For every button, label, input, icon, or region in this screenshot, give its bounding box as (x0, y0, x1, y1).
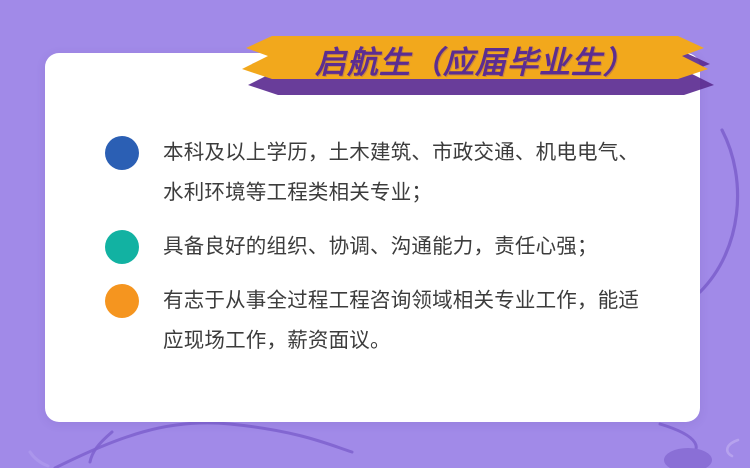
bullet-dot-teal (105, 230, 139, 264)
bottom-balloon-string (660, 424, 696, 458)
page-title: 启航生（应届毕业生） (232, 28, 718, 90)
list-item: 本科及以上学历，土木建筑、市政交通、机电电气、水利环境等工程类相关专业； (105, 133, 665, 213)
requirement-text: 有志于从事全过程工程咨询领域相关专业工作，能适应现场工作，薪资面议。 (163, 281, 653, 361)
bullet-dot-blue (105, 136, 139, 170)
requirement-text: 本科及以上学历，土木建筑、市政交通、机电电气、水利环境等工程类相关专业； (163, 133, 653, 213)
requirement-text: 具备良好的组织、协调、沟通能力，责任心强； (163, 227, 598, 267)
title-ribbon: 启航生（应届毕业生） (232, 28, 718, 104)
bottom-left-swirl (55, 423, 352, 468)
list-item: 有志于从事全过程工程咨询领域相关专业工作，能适应现场工作，薪资面议。 (105, 281, 665, 361)
right-arc-swirl (700, 130, 738, 292)
bottom-left-faint-streak (30, 452, 48, 466)
bottom-balloon-blob (664, 448, 712, 468)
poster-canvas: 启航生（应届毕业生） 本科及以上学历，土木建筑、市政交通、机电电气、水利环境等工… (0, 0, 750, 468)
requirements-list: 本科及以上学历，土木建筑、市政交通、机电电气、水利环境等工程类相关专业； 具备良… (105, 133, 665, 361)
list-item: 具备良好的组织、协调、沟通能力，责任心强； (105, 227, 665, 267)
bullet-dot-orange (105, 284, 139, 318)
bottom-right-small-arc (727, 440, 738, 456)
bottom-left-small-arc (90, 432, 112, 462)
